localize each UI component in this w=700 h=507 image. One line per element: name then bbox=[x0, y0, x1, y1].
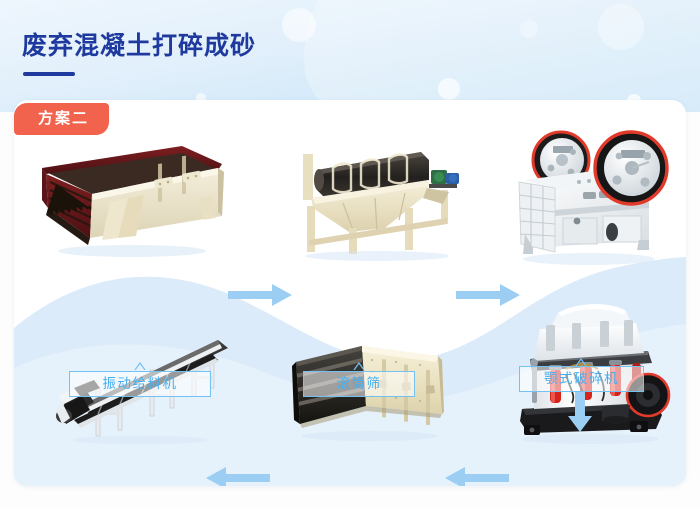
vibrating-feeder-image bbox=[32, 142, 232, 262]
scheme-badge: 方案二 bbox=[14, 103, 109, 135]
arrow-feeder-to-trommel bbox=[228, 282, 292, 308]
arrow-jaw-to-cone bbox=[567, 392, 593, 432]
arrow-screen-to-belt bbox=[206, 465, 270, 486]
process-flow-page: 废弃混凝土打碎成砂 方案二 bbox=[0, 0, 700, 507]
bubble-decoration bbox=[520, 20, 538, 38]
bubble-decoration bbox=[598, 4, 644, 50]
arrow-trommel-to-jaw bbox=[456, 282, 520, 308]
label-vibrating-feeder[interactable]: 振动给料机 bbox=[69, 371, 211, 397]
bubble-decoration bbox=[282, 8, 316, 42]
caret-vibrating-feeder bbox=[134, 362, 146, 370]
caret-jaw-crusher bbox=[575, 358, 587, 366]
bubble-decoration bbox=[438, 78, 460, 100]
trommel-screen-image bbox=[289, 146, 469, 262]
flow-diagram-card: 方案二 bbox=[14, 100, 686, 486]
arrow-cone-to-screen bbox=[445, 465, 509, 486]
node-jaw-crusher[interactable] bbox=[499, 122, 679, 267]
label-jaw-crusher[interactable]: 颚式破碎机 bbox=[519, 366, 644, 392]
jaw-crusher-image bbox=[499, 122, 679, 267]
page-title: 废弃混凝土打碎成砂 bbox=[22, 26, 256, 62]
caret-trommel-screen bbox=[353, 362, 365, 370]
node-vibrating-feeder[interactable] bbox=[32, 142, 232, 262]
label-trommel-screen[interactable]: 滚筒筛 bbox=[303, 371, 415, 397]
node-trommel-screen[interactable] bbox=[289, 146, 469, 262]
title-underline-rule bbox=[23, 72, 75, 76]
